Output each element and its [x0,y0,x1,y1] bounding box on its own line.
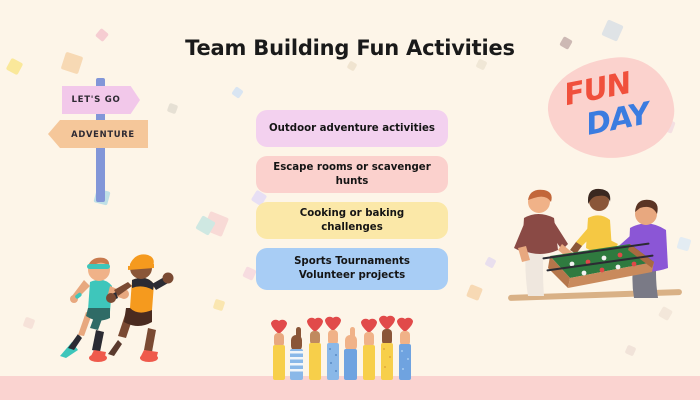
foosball-svg [508,188,688,313]
foosball-illustration [508,188,688,313]
poster-canvas: Team Building Fun Activities LET'S GO AD… [0,0,700,400]
activity-box-1[interactable]: Escape rooms or scavenger hunts [256,156,448,193]
page-title: Team Building Fun Activities [0,36,700,60]
confetti-shape [231,86,244,99]
activity-label: Outdoor adventure activities [269,122,435,136]
runners-illustration [48,238,188,368]
activity-label: Sports Tournaments Volunteer projects [268,255,436,283]
confetti-shape [242,266,257,281]
confetti-shape [347,61,358,72]
confetti-shape [167,103,179,115]
activity-box-0[interactable]: Outdoor adventure activities [256,110,448,147]
confetti-shape [484,256,496,268]
activity-list: Outdoor adventure activitiesEscape rooms… [256,110,448,299]
confetti-shape [6,58,24,76]
signpost-lets-go-label: LET'S GO [62,86,140,114]
activity-label: Escape rooms or scavenger hunts [268,161,436,189]
confetti-shape [213,299,226,312]
confetti-shape [23,317,36,330]
activity-box-3[interactable]: Sports Tournaments Volunteer projects [256,248,448,290]
signpost-illustration: LET'S GO ADVENTURE [52,72,162,202]
signpost-adventure-label: ADVENTURE [48,120,148,148]
hands-svg [265,315,435,380]
activity-label: Cooking or baking challenges [268,207,436,235]
confetti-shape [475,58,487,70]
fun-day-badge: FUN DAY [548,58,674,158]
confetti-shape [625,345,637,357]
hands-illustration [265,315,435,380]
confetti-shape [466,284,483,301]
activity-box-2[interactable]: Cooking or baking challenges [256,202,448,239]
runners-svg [48,238,188,368]
